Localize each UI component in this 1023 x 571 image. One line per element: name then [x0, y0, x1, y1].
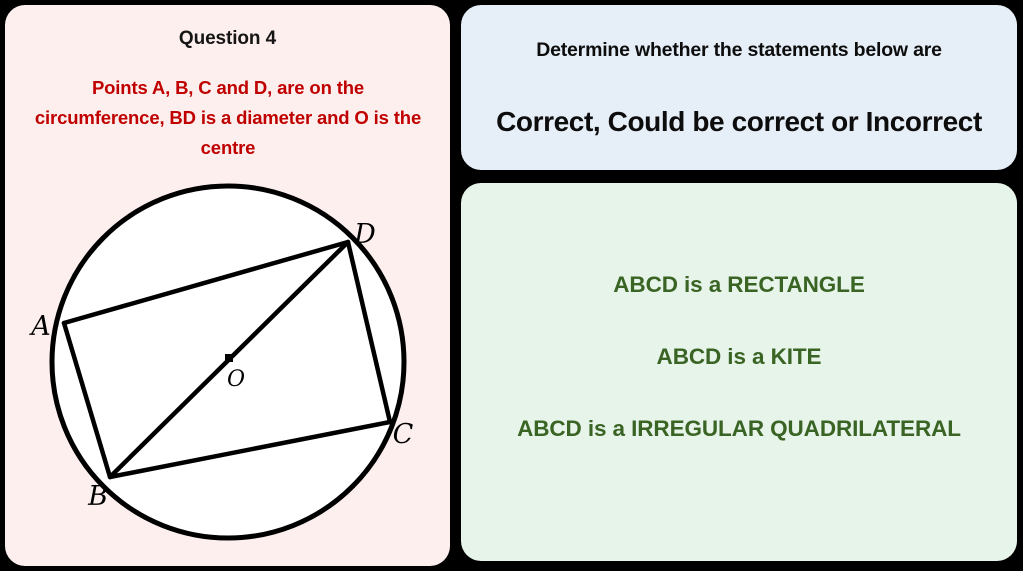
question-panel: Question 4 Points A, B, C and D, are on …	[5, 5, 450, 566]
centre-label-O: O	[227, 367, 245, 392]
circle-circumference	[52, 186, 404, 538]
vertex-label-B: B	[87, 481, 108, 512]
statement-item[interactable]: ABCD is a IRREGULAR QUADRILATERAL	[461, 416, 1017, 442]
page-title: Question 4	[5, 28, 450, 50]
question-prompt-text: Points A, B, C and D, are on the circumf…	[33, 73, 423, 163]
statement-item[interactable]: ABCD is a KITE	[461, 344, 1017, 370]
slide-canvas: Question 4 Points A, B, C and D, are on …	[0, 0, 1023, 571]
vertex-label-A: A	[28, 311, 51, 342]
statement-item[interactable]: ABCD is a RECTANGLE	[461, 272, 1017, 298]
segment-side-AB	[64, 323, 110, 477]
instruction-panel: Determine whether the statements below a…	[461, 5, 1017, 170]
segment-side-BC	[110, 422, 390, 477]
centre-point-marker	[225, 354, 233, 362]
vertex-label-C: C	[393, 419, 414, 450]
segment-diameter-BD	[110, 242, 348, 477]
statements-panel: ABCD is a RECTANGLE ABCD is a KITE ABCD …	[461, 183, 1017, 561]
segment-side-AD	[64, 242, 348, 323]
instruction-line-2: Correct, Could be correct or Incorrect	[461, 106, 1017, 138]
instruction-line-1: Determine whether the statements below a…	[461, 39, 1017, 62]
segment-side-CD	[348, 242, 390, 422]
vertex-label-D: D	[353, 219, 376, 250]
